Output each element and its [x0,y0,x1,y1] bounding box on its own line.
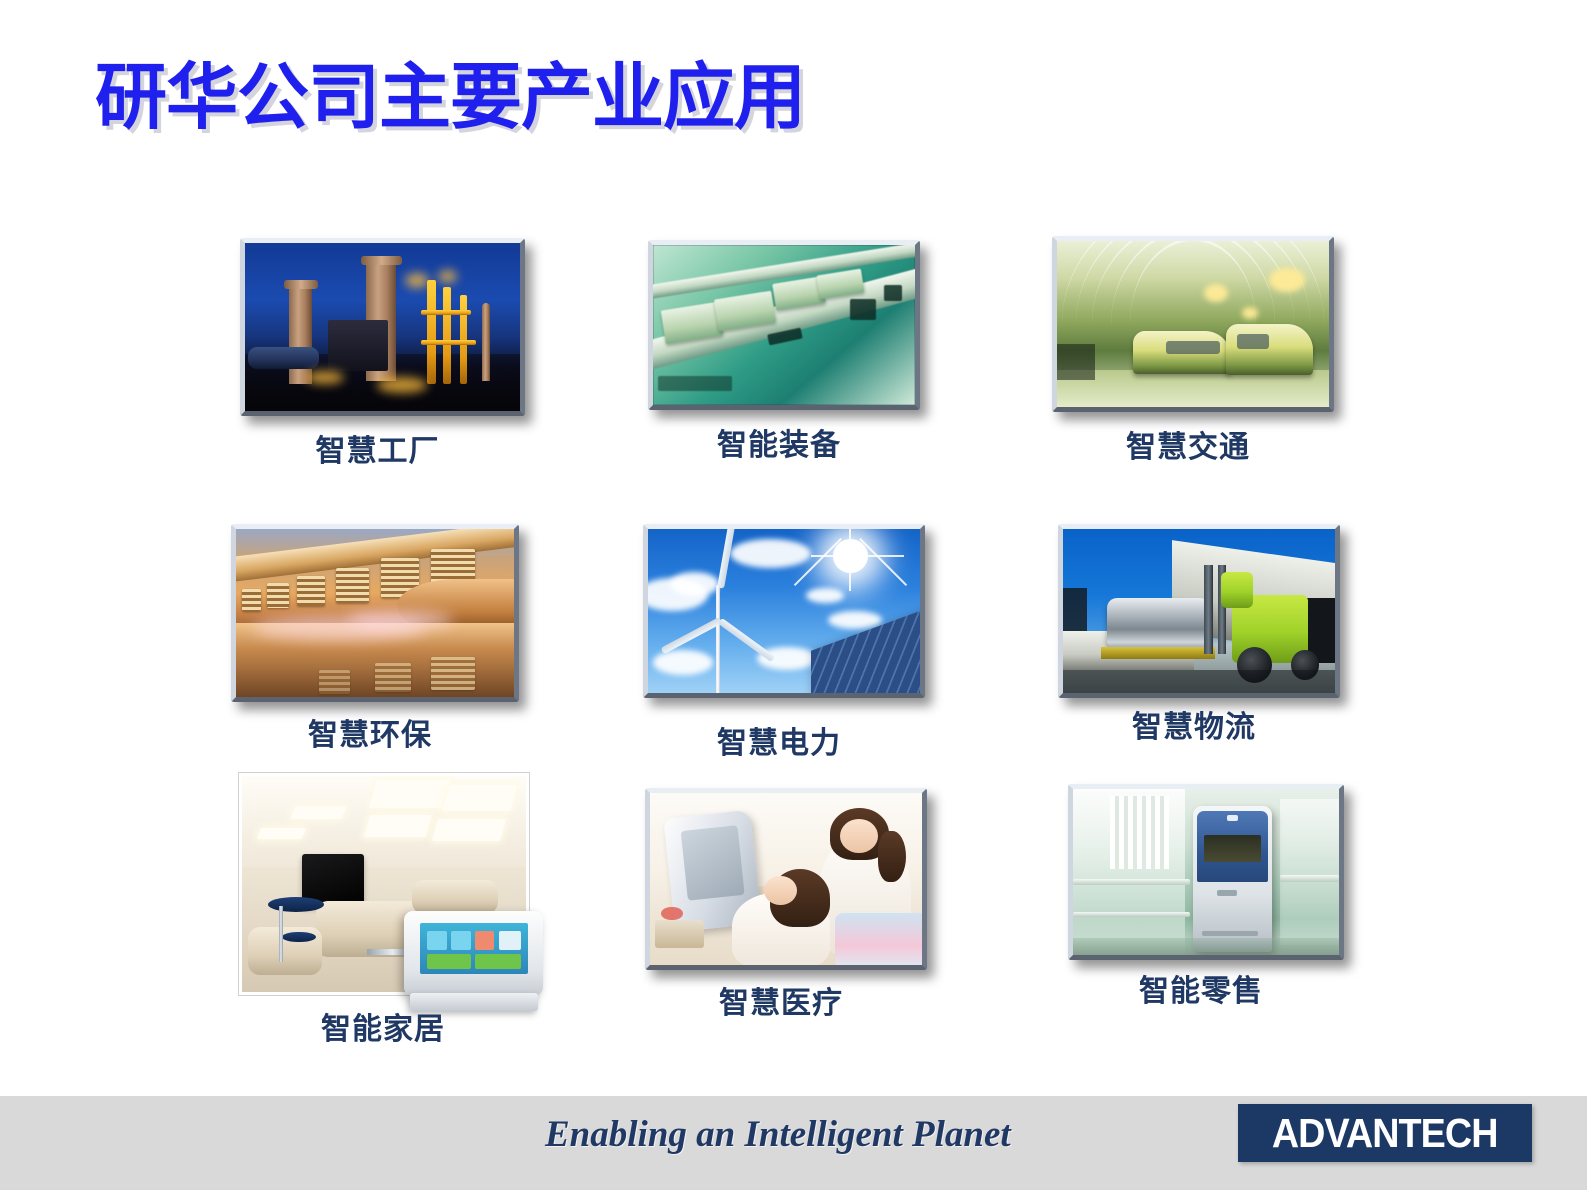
slide-root: 研华公司主要产业应用 [0,0,1587,1190]
grid-item-smart-power[interactable]: 智慧电力 [643,524,923,774]
caption-smart-home: 智能家居 [238,1004,528,1048]
grid-item-smart-logistics[interactable]: 智慧物流 [1058,524,1338,774]
advantech-logo: ADVANTECH [1238,1104,1532,1162]
grid-item-smart-healthcare[interactable]: 智慧医疗 [645,788,925,1038]
thumbnail-smart-environment[interactable] [231,524,519,702]
caption-smart-retail: 智能零售 [1068,966,1334,1010]
grid-item-smart-home[interactable]: 智能家居 [238,772,538,1042]
image-industrial-refinery [245,243,520,411]
thumbnail-smart-retail[interactable] [1068,784,1344,960]
smart-home-hmi-overlay [404,911,543,1015]
thumbnail-smart-home[interactable] [238,772,530,996]
image-self-service-kiosk [1073,789,1339,955]
thumbnail-smart-transportation[interactable] [1052,236,1334,412]
footer-tagline: Enabling an Intelligent Planet [545,1113,1011,1156]
thumbnail-smart-healthcare[interactable] [645,788,927,970]
caption-smart-healthcare: 智慧医疗 [645,978,917,1022]
advantech-logo-text: ADVANTECH [1272,1110,1498,1157]
grid-item-smart-environment[interactable]: 智慧环保 [231,524,516,774]
caption-smart-logistics: 智慧物流 [1058,702,1330,746]
image-train-station [1057,241,1329,407]
industry-grid: 智慧工厂 智能装备 [0,0,1587,1090]
image-forklift-with-coil [1063,529,1335,693]
grid-item-smart-factory[interactable]: 智慧工厂 [240,238,525,488]
grid-item-smart-transportation[interactable]: 智慧交通 [1052,236,1332,486]
thumbnail-smart-logistics[interactable] [1058,524,1340,698]
thumbnail-smart-factory[interactable] [240,238,525,416]
caption-smart-factory: 智慧工厂 [240,426,515,470]
caption-smart-equipment: 智能装备 [648,420,910,464]
image-nurse-and-child [650,793,922,965]
caption-smart-transportation: 智慧交通 [1052,422,1324,466]
caption-smart-power: 智慧电力 [643,718,915,762]
image-pcb-assembly-line [653,245,915,405]
image-dam-water-treatment [236,529,514,697]
grid-item-smart-equipment[interactable]: 智能装备 [648,240,923,490]
grid-item-smart-retail[interactable]: 智能零售 [1068,784,1348,1034]
image-wind-and-solar [648,529,920,693]
caption-smart-environment: 智慧环保 [231,710,509,754]
thumbnail-smart-power[interactable] [643,524,925,698]
thumbnail-smart-equipment[interactable] [648,240,920,410]
